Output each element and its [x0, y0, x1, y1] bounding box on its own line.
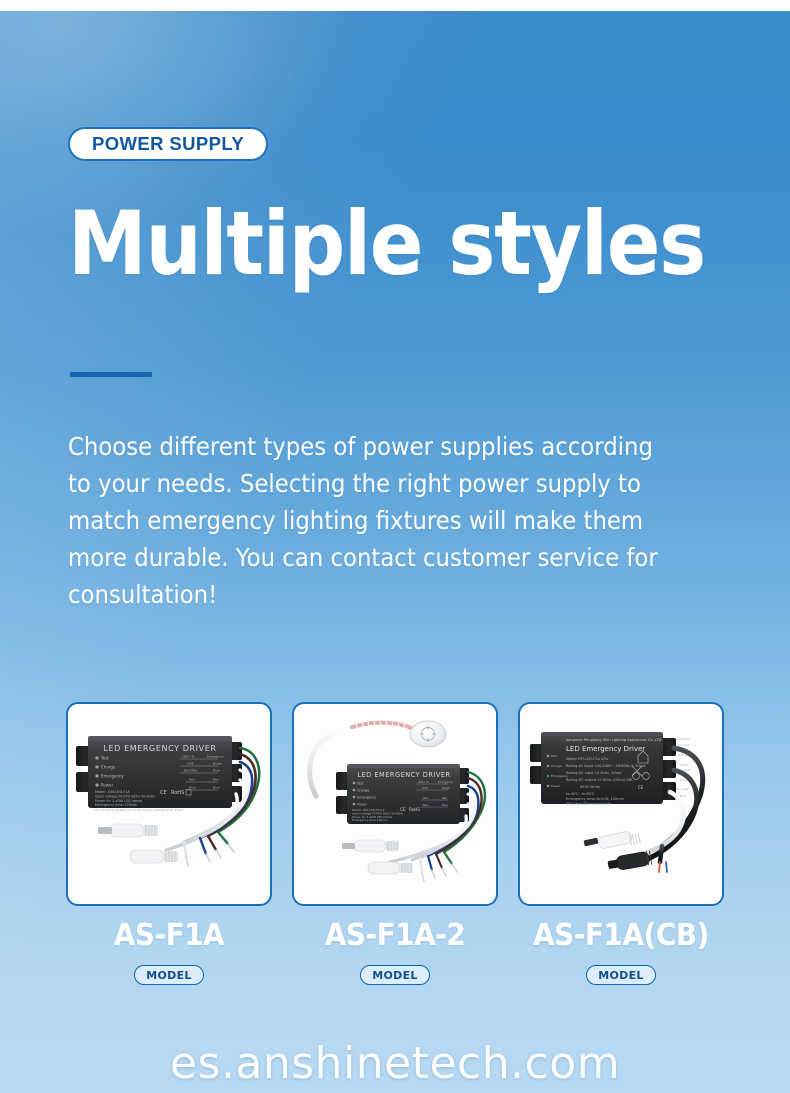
svg-text:Emergency time:3min3t, 120min: Emergency time:3min3t, 120min [566, 797, 624, 801]
svg-text:Test: Test [550, 754, 558, 758]
driver-illustration-2: LED EMERGENCY DRIVER Test Charge Emergen… [294, 704, 496, 904]
svg-text:LIVE: LIVE [187, 762, 194, 766]
svg-text:Emergency: Emergency [357, 795, 376, 799]
svg-text:CE: CE [160, 790, 167, 796]
svg-text:Rating DC input 10.8Vdc, 50mA: Rating DC input 10.8Vdc, 50mA [566, 771, 622, 775]
svg-text:Blue: Blue [189, 786, 196, 790]
svg-text:Charge: Charge [551, 764, 562, 768]
product-card-as-f1a-cb[interactable]: Jiangmen Pengjiang Shin Lighting Applian… [518, 702, 724, 906]
svg-text:+ Red: + Red [679, 763, 688, 767]
product-card-row: LED EMERGENCY DRIVER Test Charge Emergen… [0, 702, 790, 908]
svg-text:Blue: Blue [423, 803, 429, 807]
accent-divider [70, 372, 152, 377]
svg-text:Power: Power [357, 802, 368, 806]
svg-text:This driver is suitable for al: This driver is suitable for all LED lamp… [93, 808, 184, 812]
svg-text:Emergency: Emergency [438, 780, 453, 784]
svg-text:Charge: Charge [357, 788, 369, 792]
svg-text:Emergency: Emergency [101, 774, 124, 779]
page-content: POWER SUPPLY Multiple styles Choose diff… [0, 0, 790, 1093]
svg-text:6500 White: 6500 White [580, 785, 600, 789]
svg-text:CE: CE [400, 807, 406, 812]
model-tag-0: MODEL [134, 965, 203, 985]
product-model-names: AS-F1A AS-F1A-2 AS-F1A(CB) [0, 918, 790, 960]
product-image-as-f1a: LED EMERGENCY DRIVER Test Charge Emergen… [68, 704, 270, 904]
svg-text:Red: Red [423, 796, 428, 800]
svg-text:Model: XXX-LED-F1A: Model: XXX-LED-F1A [95, 790, 130, 794]
hero-description: Choose different types of power supplies… [68, 428, 682, 613]
model-name-1: AS-F1A-2 [299, 918, 491, 953]
power-supply-badge-label: POWER SUPPLY [92, 133, 244, 155]
product-card-as-f1a-2[interactable]: LED EMERGENCY DRIVER Test Charge Emergen… [292, 702, 498, 906]
svg-text:SELV for LED module only: SELV for LED module only [566, 802, 611, 806]
page-root: POWER SUPPLY Multiple styles Choose diff… [0, 0, 790, 1093]
product-model-tags: MODEL MODEL MODEL [0, 965, 790, 989]
svg-text:Model:FXT-LED-F1A 4/5s: Model:FXT-LED-F1A 4/5s [566, 757, 609, 761]
product-image-as-f1a-2: LED EMERGENCY DRIVER Test Charge Emergen… [294, 704, 496, 904]
svg-text:CE: CE [638, 785, 644, 790]
svg-text:Emergency: Emergency [207, 755, 224, 759]
svg-text:LED+ To: LED+ To [418, 780, 429, 784]
svg-text:Rating AC input 100-240V~ 50/6: Rating AC input 100-240V~ 50/60Hz 0.31Vp… [566, 764, 647, 768]
power-supply-badge: POWER SUPPLY [68, 127, 268, 161]
model-tag-wrap-2: MODEL [518, 965, 724, 985]
svg-text:Emergency time:120min: Emergency time:120min [352, 818, 388, 822]
model-tag-2: MODEL [586, 965, 655, 985]
page-title: Multiple styles [68, 198, 680, 290]
model-tag-wrap-0: MODEL [66, 965, 272, 985]
driver-illustration-3: Jiangmen Pengjiang Shin Lighting Applian… [520, 704, 722, 904]
svg-text:Brown: Brown [442, 786, 450, 790]
svg-text:Red: Red [442, 796, 447, 800]
svg-text:ta:40'C - tc:80'C: ta:40'C - tc:80'C [566, 792, 595, 796]
model-tag-1: MODEL [360, 965, 429, 985]
svg-text:NEUTRAL: NEUTRAL [184, 769, 198, 773]
svg-text:Rating DC output 10.8Vdc,100mA: Rating DC output 10.8Vdc,100mA,6W, [566, 778, 633, 782]
svg-text:LED EMERGENCY DRIVER: LED EMERGENCY DRIVER [357, 771, 450, 779]
svg-text:Blue: Blue [442, 803, 448, 807]
svg-text:Brown: Brown [213, 762, 223, 766]
model-name-2: AS-F1A(CB) [525, 918, 717, 953]
svg-text:DC input: DC input [676, 787, 689, 791]
svg-text:Red: Red [213, 778, 219, 782]
svg-text:LED Emergency Driver: LED Emergency Driver [566, 745, 645, 753]
svg-text:Power: Power [551, 784, 561, 788]
svg-text:LED EMERGENCY DRIVER: LED EMERGENCY DRIVER [103, 744, 216, 753]
svg-text:Emergency time:120min: Emergency time:120min [95, 803, 137, 807]
site-watermark: es.anshinetech.com [0, 1038, 790, 1089]
svg-text:LIVE: LIVE [422, 786, 428, 790]
svg-text:Blue: Blue [213, 786, 220, 790]
svg-text:Emergency: Emergency [551, 774, 568, 778]
driver-illustration-1: LED EMERGENCY DRIVER Test Charge Emergen… [68, 704, 270, 904]
svg-text:Input voltage:AC90V-265V 50-60: Input voltage:AC90V-265V 50-60Hz [95, 795, 155, 799]
svg-text:Test: Test [356, 781, 364, 785]
svg-text:Blue: Blue [680, 794, 687, 798]
svg-text:Jiangmen Pengjiang Shin Lighti: Jiangmen Pengjiang Shin Lighting Applian… [565, 738, 662, 742]
svg-text:Test: Test [100, 756, 109, 761]
svg-text:RoHS: RoHS [409, 807, 420, 812]
product-image-as-f1a-cb: Jiangmen Pengjiang Shin Lighting Applian… [520, 704, 722, 904]
model-name-0: AS-F1A [73, 918, 265, 953]
svg-text:Charge: Charge [101, 765, 116, 770]
product-card-as-f1a[interactable]: LED EMERGENCY DRIVER Test Charge Emergen… [66, 702, 272, 906]
svg-text:RoHS: RoHS [171, 790, 184, 796]
svg-text:Power: Power [101, 783, 113, 788]
svg-text:Red: Red [189, 778, 195, 782]
model-tag-wrap-1: MODEL [292, 965, 498, 985]
svg-text:LED+ To: LED+ To [182, 755, 195, 759]
svg-text:Blue: Blue [213, 769, 220, 773]
svg-text:L Brown: L Brown [678, 737, 690, 741]
